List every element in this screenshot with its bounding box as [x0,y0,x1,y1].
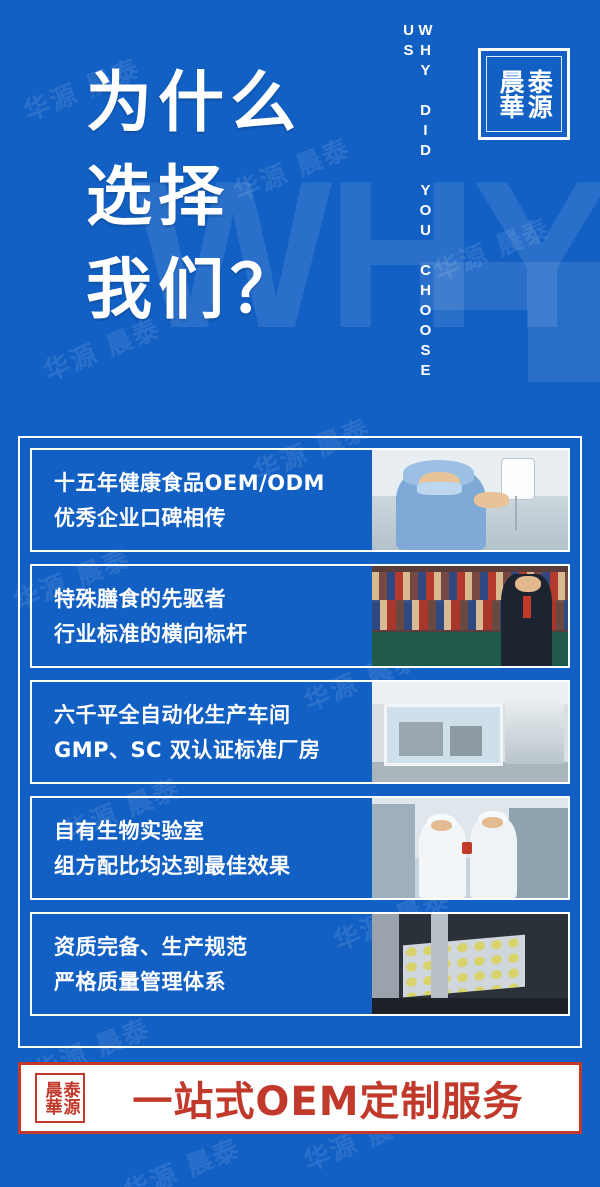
benefit-card-text: 自有生物实验室 组方配比均达到最佳效果 [32,798,372,898]
headline-line-1: 为什么 [86,56,302,150]
benefit-card-text: 六千平全自动化生产车间 GMP、SC 双认证标准厂房 [32,682,372,782]
workers-production-line-photo [372,798,568,898]
brand-seal-inner: 晨華 泰源 [486,56,562,132]
benefit-line-2: 优秀企业口碑相传 [54,501,372,536]
vertical-english-tagline: WHY DID YOU CHOOSE US [408,22,434,394]
benefit-card: 六千平全自动化生产车间 GMP、SC 双认证标准厂房 [30,680,570,784]
footer-banner: 晨華 泰源 一站式OEM定制服务 [18,1062,582,1134]
brand-seal-logo: 晨華 泰源 [478,48,570,140]
benefits-panel: 十五年健康食品OEM/ODM 优秀企业口碑相传 特殊膳食的先驱者 行业标准的横向… [18,436,582,1048]
benefit-card: 特殊膳食的先驱者 行业标准的横向标杆 [30,564,570,668]
poster-header: WHY 为什么 选择 我们？ WHY DID YOU CHOOSE US 晨華 … [0,0,600,430]
benefit-line-1: 自有生物实验室 [54,814,372,849]
benefit-line-1: 资质完备、生产规范 [54,930,372,965]
benefit-card: 自有生物实验室 组方配比均达到最佳效果 [30,796,570,900]
lab-worker-iv-bag-photo [372,450,568,550]
benefit-line-2: 组方配比均达到最佳效果 [54,849,372,884]
cleanroom-corridor-photo [372,682,568,782]
seal-column-2: 泰源 [525,69,551,119]
seal-column-1: 晨華 [497,69,523,119]
page-title: 为什么 选择 我们？ [86,56,302,337]
headline-line-3: 我们？ [86,243,302,337]
footer-seal-column-1: 晨華 [43,1081,60,1115]
benefit-line-1: 六千平全自动化生产车间 [54,698,372,733]
footer-slogan: 一站式OEM定制服务 [85,1069,579,1127]
benefit-line-2: 严格质量管理体系 [54,965,372,1000]
footer-seal-column-2: 泰源 [61,1081,78,1115]
benefit-card: 十五年健康食品OEM/ODM 优秀企业口碑相传 [30,448,570,552]
conference-audience-photo [372,566,568,666]
footer-seal-logo: 晨華 泰源 [35,1073,85,1123]
benefit-card-text: 十五年健康食品OEM/ODM 优秀企业口碑相传 [32,450,372,550]
headline-line-2: 选择 [86,150,302,244]
benefit-card-text: 特殊膳食的先驱者 行业标准的横向标杆 [32,566,372,666]
benefit-card-text: 资质完备、生产规范 严格质量管理体系 [32,914,372,1014]
watermark-text: 华源 晨泰 [118,1128,246,1187]
poster-root: 华源 晨泰 华源 晨泰 华源 晨泰 华源 晨泰 华源 晨泰 华源 晨泰 华源 晨… [0,0,600,1187]
benefit-line-1: 十五年健康食品OEM/ODM [54,466,372,501]
tablet-press-machine-photo [372,914,568,1014]
benefit-card: 资质完备、生产规范 严格质量管理体系 [30,912,570,1016]
benefit-line-1: 特殊膳食的先驱者 [54,582,372,617]
benefit-line-2: 行业标准的横向标杆 [54,617,372,652]
benefit-line-2: GMP、SC 双认证标准厂房 [54,733,372,768]
